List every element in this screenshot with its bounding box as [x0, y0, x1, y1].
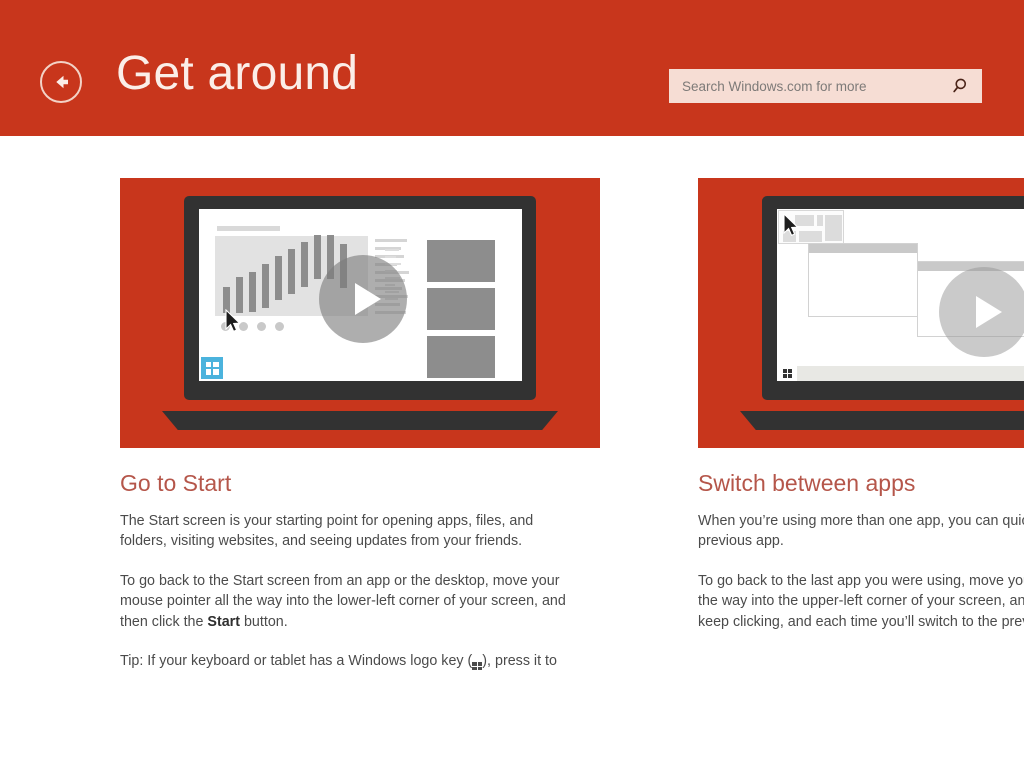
screen-tiles	[427, 240, 495, 381]
card-title: Go to Start	[120, 470, 600, 498]
search-input[interactable]	[682, 69, 952, 103]
thumbnail-block	[825, 215, 842, 241]
play-icon	[355, 283, 381, 315]
window-titlebar	[809, 244, 917, 253]
card-paragraph: Tip: If your keyboard or tablet has a Wi…	[120, 651, 600, 670]
chart-bar	[288, 249, 295, 294]
windows-logo-icon[interactable]	[201, 357, 223, 379]
chart-bar	[236, 277, 243, 313]
card-go-to-start: Go to Start The Start screen is your sta…	[120, 178, 600, 670]
chart-bar	[262, 264, 269, 308]
screen-tile	[427, 288, 495, 330]
laptop-base	[162, 411, 558, 430]
card-switch-between-apps: Switch between apps When you’re using mo…	[698, 178, 1024, 670]
illustration-switch-between-apps[interactable]	[698, 178, 1024, 448]
card-body: When you’re using more than one app, you…	[698, 511, 1024, 633]
chart-bar	[301, 242, 308, 287]
mouse-cursor-icon	[783, 213, 801, 239]
chart-bar	[314, 235, 321, 279]
screen-header-bar	[217, 226, 280, 231]
emphasis-text: Start	[207, 614, 240, 630]
text-line	[385, 249, 399, 251]
page-dot	[275, 322, 284, 331]
text-line	[385, 256, 396, 258]
play-button[interactable]	[319, 255, 407, 343]
app-window-back	[808, 243, 918, 317]
page-dot	[257, 322, 266, 331]
back-arrow-icon	[49, 70, 73, 94]
thumbnail-block	[817, 215, 823, 226]
laptop-screen	[199, 209, 522, 381]
card-paragraph: When you’re using more than one app, you…	[698, 511, 1024, 552]
card-paragraph: The Start screen is your starting point …	[120, 511, 600, 552]
play-button[interactable]	[939, 267, 1024, 357]
screen-tile	[427, 336, 495, 378]
search-box[interactable]	[669, 69, 982, 103]
card-paragraph: To go back to the Start screen from an a…	[120, 571, 600, 633]
card-title: Switch between apps	[698, 470, 1024, 498]
text-line	[375, 239, 407, 242]
search-icon[interactable]	[952, 76, 972, 96]
screen-tile	[427, 240, 495, 282]
thumbnail-block	[799, 231, 822, 242]
back-button[interactable]	[40, 61, 82, 103]
card-paragraph: To go back to the last app you were usin…	[698, 571, 1024, 633]
illustration-go-to-start[interactable]	[120, 178, 600, 448]
page-header: Get around	[0, 0, 1024, 136]
taskbar	[777, 366, 1024, 381]
laptop-base	[740, 411, 1024, 430]
laptop-screen	[777, 209, 1024, 381]
page-title: Get around	[116, 46, 358, 101]
content-area: Go to Start The Start screen is your sta…	[0, 136, 1024, 670]
windows-key-icon	[472, 662, 482, 670]
mouse-cursor-icon	[225, 309, 243, 335]
chart-bar	[275, 256, 282, 300]
chart-bar	[249, 272, 256, 312]
windows-logo-icon[interactable]	[777, 366, 797, 381]
card-body: The Start screen is your starting point …	[120, 511, 600, 670]
cards-container: Go to Start The Start screen is your sta…	[120, 178, 1024, 670]
play-icon	[976, 296, 1002, 328]
